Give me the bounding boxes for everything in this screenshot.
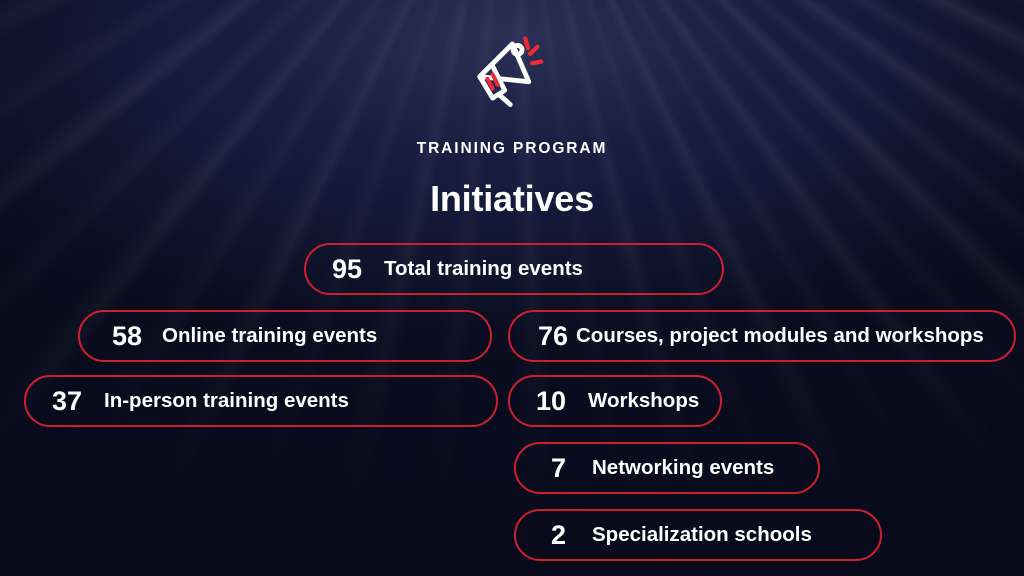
stat-label: Workshops xyxy=(588,391,699,412)
stat-label: Courses, project modules and workshops xyxy=(576,326,984,347)
stat-value: 76 xyxy=(510,323,568,350)
stat-label: Specialization schools xyxy=(592,525,812,546)
stat-pill-courses: 76 Courses, project modules and workshop… xyxy=(508,310,1016,362)
stat-label: Networking events xyxy=(592,458,774,479)
stat-label: In-person training events xyxy=(104,391,349,412)
stat-pill-online: 58 Online training events xyxy=(78,310,492,362)
stat-pill-workshops: 10 Workshops xyxy=(508,375,722,427)
slide-content: TRAINING PROGRAM Initiatives 95 Total tr… xyxy=(0,0,1024,576)
stat-pill-networking: 7 Networking events xyxy=(514,442,820,494)
stat-label: Online training events xyxy=(162,326,377,347)
stat-value: 95 xyxy=(306,256,362,283)
slide-canvas: TRAINING PROGRAM Initiatives 95 Total tr… xyxy=(0,0,1024,576)
stat-label: Total training events xyxy=(384,259,583,280)
stat-value: 10 xyxy=(510,388,566,415)
eyebrow-text: TRAINING PROGRAM xyxy=(0,140,1024,158)
stat-value: 7 xyxy=(516,455,566,482)
stat-pill-in-person: 37 In-person training events xyxy=(24,375,498,427)
stat-pill-specialization: 2 Specialization schools xyxy=(514,509,882,561)
stat-value: 37 xyxy=(26,388,82,415)
page-title: Initiatives xyxy=(0,178,1024,220)
stat-value: 58 xyxy=(80,323,142,350)
megaphone-icon xyxy=(469,28,555,114)
stat-pill-total: 95 Total training events xyxy=(304,243,724,295)
stat-value: 2 xyxy=(516,522,566,549)
